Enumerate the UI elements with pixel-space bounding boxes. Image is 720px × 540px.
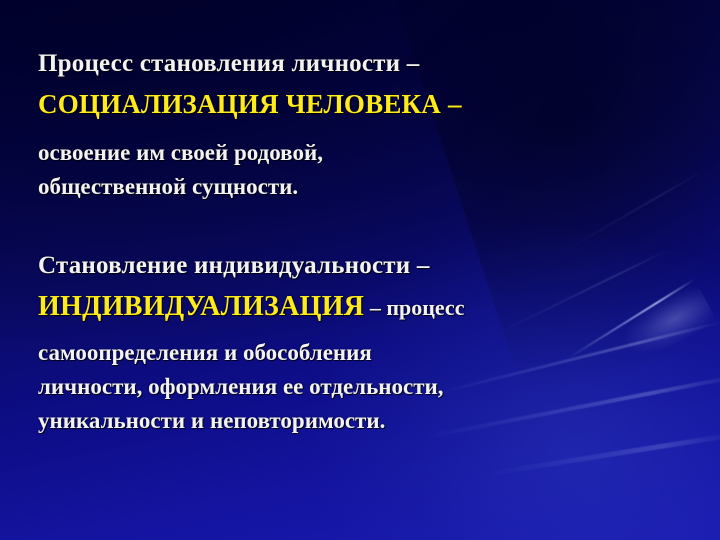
socialization-definition-line-1: освоение им своей родовой, [38, 136, 688, 170]
paragraph-individualization: Становление индивидуальности – ИНДИВИДУА… [38, 246, 688, 438]
socialization-intro-line: Процесс становления личности – [38, 44, 688, 84]
individualization-term-suffix: – процесс [364, 295, 464, 320]
individualization-intro-line: Становление индивидуальности – [38, 246, 688, 286]
slide-canvas: Процесс становления личности – СОЦИАЛИЗА… [0, 0, 720, 540]
individualization-definition-line-1: самоопределения и обособления [38, 336, 688, 370]
individualization-term: ИНДИВИДУАЛИЗАЦИЯ [38, 291, 364, 322]
line-gap [38, 124, 688, 136]
paragraph-socialization: Процесс становления личности – СОЦИАЛИЗА… [38, 44, 688, 204]
socialization-term: СОЦИАЛИЗАЦИЯ ЧЕЛОВЕКА – [38, 84, 688, 124]
individualization-definition-line-2: личности, оформления ее отдельности, [38, 370, 688, 404]
individualization-definition-line-3: уникальности и неповторимости. [38, 404, 688, 438]
slide-text-content: Процесс становления личности – СОЦИАЛИЗА… [38, 44, 688, 438]
diagonal-streak [481, 432, 720, 478]
socialization-definition-line-2: общественной сущности. [38, 170, 688, 204]
paragraph-gap [38, 204, 688, 246]
